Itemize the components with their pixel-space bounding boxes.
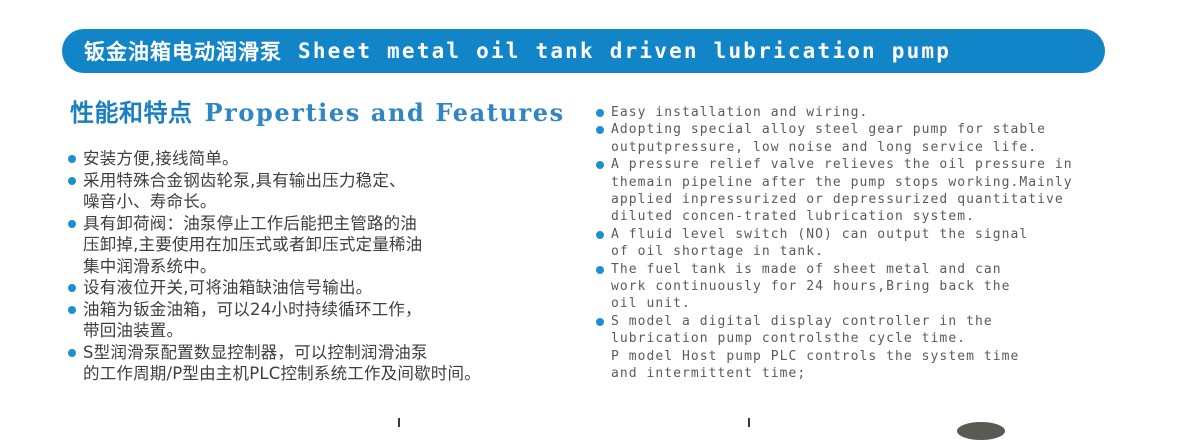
feature-line: 的工作周期/P型由主机PLC控制系统工作及间歇时间。 [83,363,576,385]
feature-item: 具有卸荷阀：油泵停止工作后能把主管路的油压卸掉,主要使用在加压式或者卸压式定量稀… [66,213,576,278]
cropped-photo-artifact-right [957,422,1005,440]
feature-line: 采用特殊合金钢齿轮泵,具有输出压力稳定、 [83,170,576,192]
feature-line: outputpressure, low noise and long servi… [611,139,1094,156]
feature-item: 安装方便,接线简单。 [66,148,576,170]
feature-line: 安装方便,接线简单。 [83,148,576,170]
feature-line: 噪音小、寿命长。 [83,191,576,213]
feature-line: 压卸掉,主要使用在加压式或者卸压式定量稀油 [83,234,576,256]
features-column-chinese: 安装方便,接线简单。采用特殊合金钢齿轮泵,具有输出压力稳定、噪音小、寿命长。具有… [66,148,576,385]
feature-item: S model a digital display controller in … [594,313,1094,383]
product-title-banner: 钣金油箱电动润滑泵 Sheet metal oil tank driven lu… [62,29,1105,73]
feature-item: Adopting special alloy steel gear pump f… [594,121,1094,156]
feature-line: The fuel tank is made of sheet metal and… [611,261,1094,278]
section-heading-chinese: 性能和特点 [70,93,193,128]
feature-item: A fluid level switch (NO) can output the… [594,226,1094,261]
feature-item: S型润滑泵配置数显控制器，可以控制润滑油泵的工作周期/P型由主机PLC控制系统工… [66,342,576,385]
cropped-photo-artifact-left [398,418,400,427]
feature-line: work continuously for 24 hours,Bring bac… [611,278,1094,295]
feature-line: of oil shortage in tank. [611,243,1094,260]
feature-line: Easy installation and wiring. [611,104,1094,121]
feature-line: 设有液位开关,可将油箱缺油信号输出。 [83,277,576,299]
cropped-photo-artifact-center [748,418,750,427]
feature-line: 具有卸荷阀：油泵停止工作后能把主管路的油 [83,213,576,235]
feature-line: and intermittent time; [611,365,1094,382]
features-column-english: Easy installation and wiring.Adopting sp… [594,104,1094,383]
feature-item: 油箱为钣金油箱，可以24小时持续循环工作，带回油装置。 [66,299,576,342]
feature-line: A fluid level switch (NO) can output the… [611,226,1094,243]
feature-line: S model a digital display controller in … [611,313,1094,330]
feature-item: 设有液位开关,可将油箱缺油信号输出。 [66,277,576,299]
feature-line: themain pipeline after the pump stops wo… [611,174,1094,191]
feature-line: 集中润滑系统中。 [83,256,576,278]
feature-line: 油箱为钣金油箱，可以24小时持续循环工作， [83,299,576,321]
product-title-english: Sheet metal oil tank driven lubrication … [298,39,951,63]
feature-line: P model Host pump PLC controls the syste… [611,348,1094,365]
feature-line: applied inpressurized or depressurized q… [611,191,1094,208]
section-heading: 性能和特点 Properties and Features [70,93,565,128]
feature-line: A pressure relief valve relieves the oil… [611,156,1094,173]
feature-list-chinese: 安装方便,接线简单。采用特殊合金钢齿轮泵,具有输出压力稳定、噪音小、寿命长。具有… [66,148,576,385]
product-title-chinese: 钣金油箱电动润滑泵 [84,36,282,66]
feature-line: Adopting special alloy steel gear pump f… [611,121,1094,138]
feature-line: lubrication pump controlsthe cycle time. [611,330,1094,347]
section-heading-english: Properties and Features [205,98,565,127]
feature-item: 采用特殊合金钢齿轮泵,具有输出压力稳定、噪音小、寿命长。 [66,170,576,213]
feature-item: A pressure relief valve relieves the oil… [594,156,1094,226]
feature-line: 带回油装置。 [83,320,576,342]
feature-item: The fuel tank is made of sheet metal and… [594,261,1094,313]
feature-line: diluted concen-trated lubrication system… [611,208,1094,225]
feature-line: S型润滑泵配置数显控制器，可以控制润滑油泵 [83,342,576,364]
feature-list-english: Easy installation and wiring.Adopting sp… [594,104,1094,383]
feature-line: oil unit. [611,295,1094,312]
feature-item: Easy installation and wiring. [594,104,1094,121]
